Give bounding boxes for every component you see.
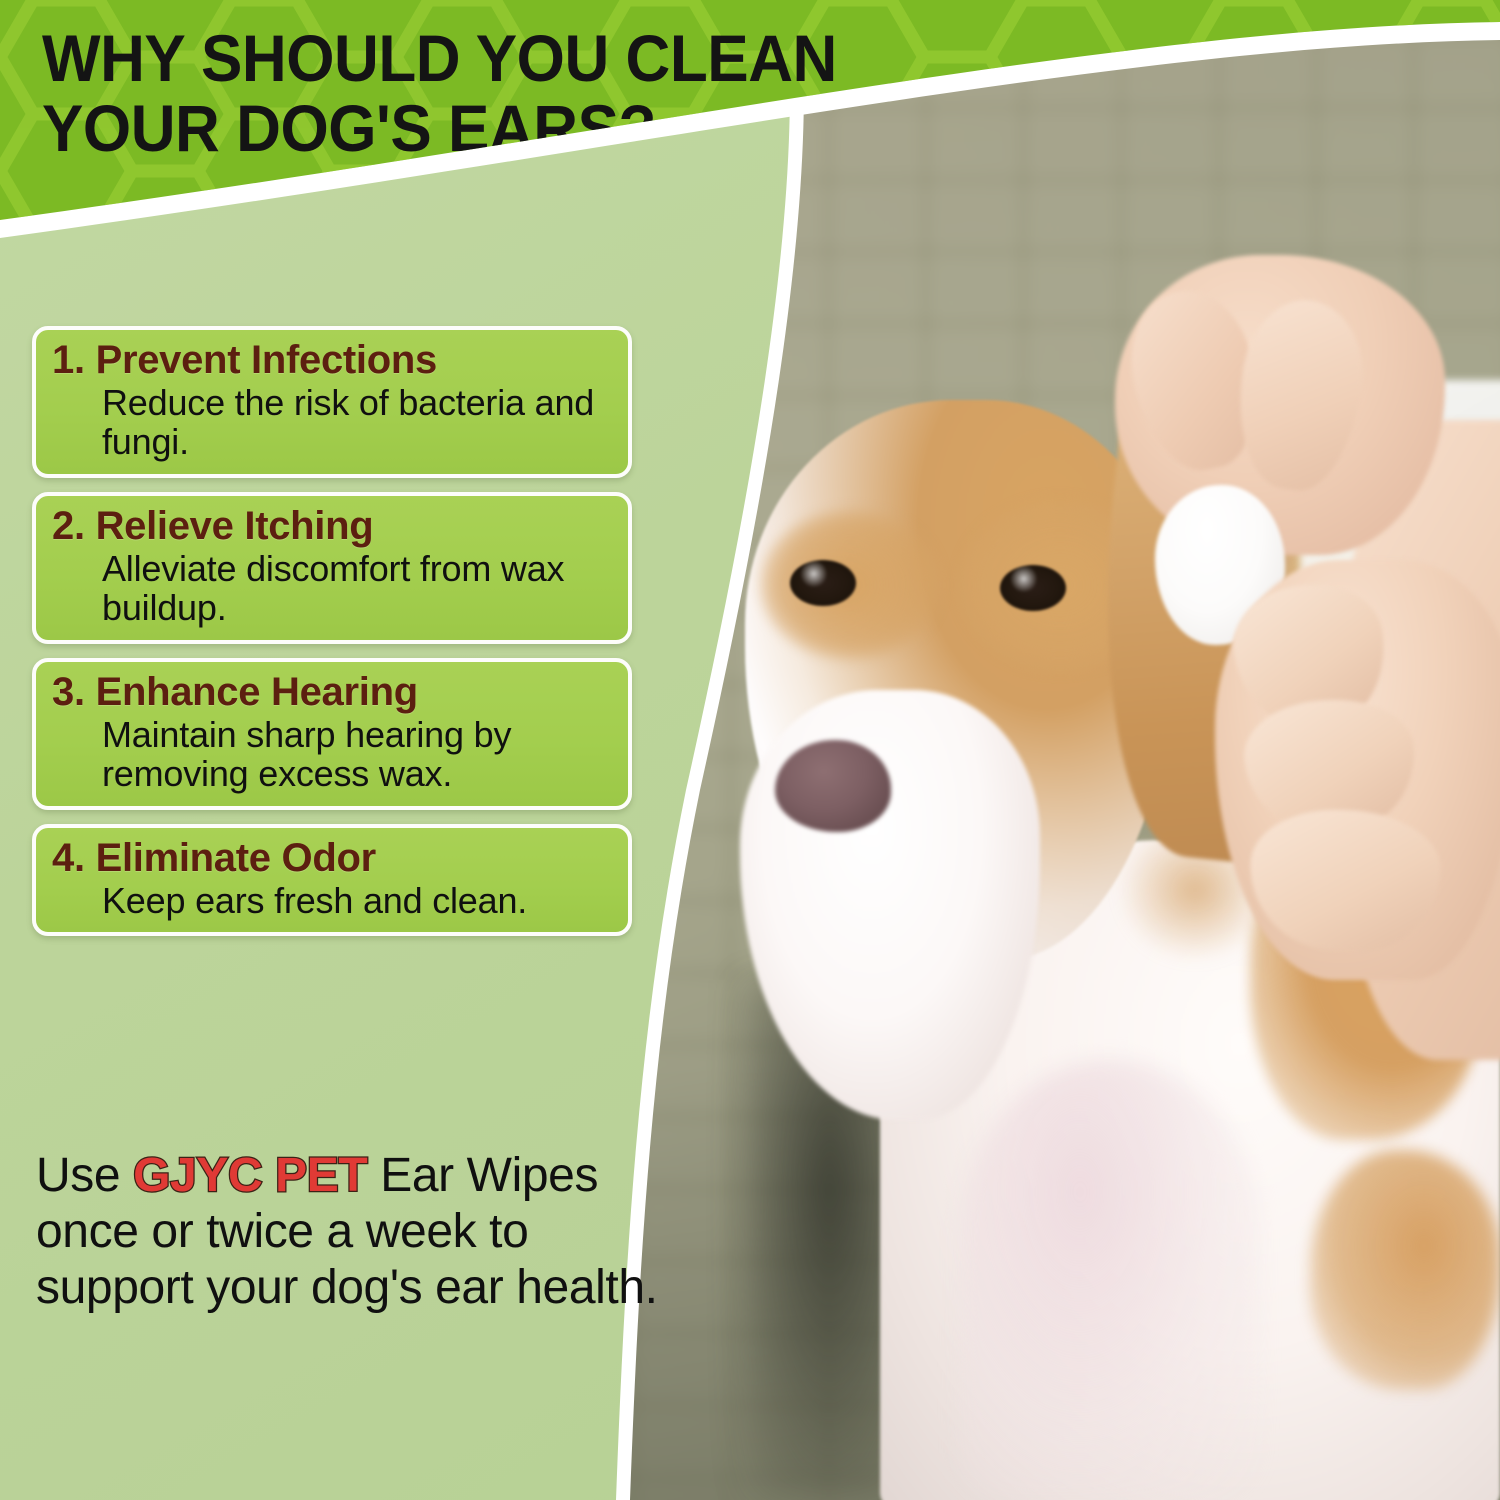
benefit-card-2: 2. Relieve Itching Alleviate discomfort …: [32, 492, 632, 644]
benefit-title: 2. Relieve Itching: [52, 504, 614, 549]
benefit-description: Alleviate discomfort from wax buildup.: [52, 549, 614, 628]
benefit-description: Reduce the risk of bacteria and fungi.: [52, 383, 614, 462]
benefit-title: 3. Enhance Hearing: [52, 670, 614, 715]
benefit-description: Keep ears fresh and clean.: [52, 881, 614, 921]
benefit-title: 4. Eliminate Odor: [52, 836, 614, 881]
product-infographic: WHY SHOULD YOU CLEAN YOUR DOG'S EARS? 1.…: [0, 0, 1500, 1500]
benefit-card-4: 4. Eliminate Odor Keep ears fresh and cl…: [32, 824, 632, 936]
benefit-description: Maintain sharp hearing by removing exces…: [52, 715, 614, 794]
benefit-card-1: 1. Prevent Infections Reduce the risk of…: [32, 326, 632, 478]
benefit-title: 1. Prevent Infections: [52, 338, 614, 383]
cta-lead-text: Use: [36, 1149, 133, 1202]
benefit-card-3: 3. Enhance Hearing Maintain sharp hearin…: [32, 658, 632, 810]
benefits-list: 1. Prevent Infections Reduce the risk of…: [32, 326, 632, 950]
brand-name: GJYC PET: [133, 1149, 367, 1202]
usage-instruction: Use GJYC PET Ear Wipes once or twice a w…: [36, 1148, 666, 1316]
